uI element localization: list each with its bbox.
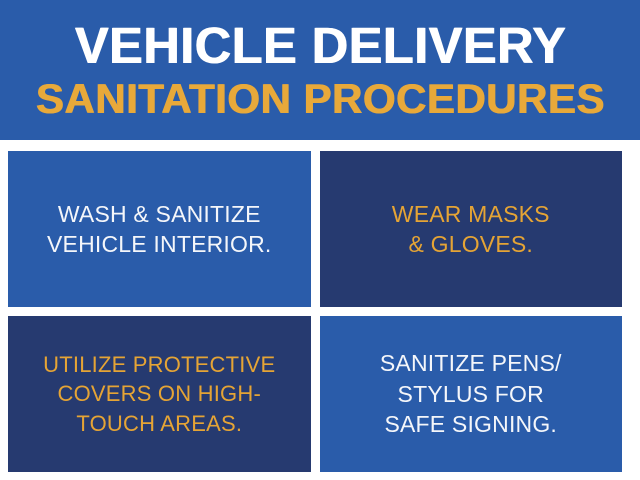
- procedure-card-grid: WASH & SANITIZE VEHICLE INTERIOR. WEAR M…: [8, 151, 622, 472]
- procedure-card-sanitize-pens-stylus: SANITIZE PENS/ STYLUS FOR SAFE SIGNING.: [320, 316, 623, 472]
- poster-title-secondary: SANITATION PROCEDURES: [36, 78, 605, 120]
- sanitation-poster: VEHICLE DELIVERY SANITATION PROCEDURES W…: [0, 0, 640, 480]
- procedure-card-label: WASH & SANITIZE VEHICLE INTERIOR.: [47, 199, 272, 260]
- procedure-card-wear-masks-gloves: WEAR MASKS & GLOVES.: [320, 151, 623, 307]
- procedure-card-label: WEAR MASKS & GLOVES.: [392, 199, 550, 260]
- poster-header: VEHICLE DELIVERY SANITATION PROCEDURES: [0, 0, 640, 140]
- procedure-card-label: UTILIZE PROTECTIVE COVERS ON HIGH- TOUCH…: [43, 350, 275, 437]
- procedure-card-label: SANITIZE PENS/ STYLUS FOR SAFE SIGNING.: [380, 348, 562, 439]
- procedure-card-protective-covers: UTILIZE PROTECTIVE COVERS ON HIGH- TOUCH…: [8, 316, 311, 472]
- procedure-card-wash-sanitize-interior: WASH & SANITIZE VEHICLE INTERIOR.: [8, 151, 311, 307]
- poster-title-primary: VEHICLE DELIVERY: [74, 20, 565, 71]
